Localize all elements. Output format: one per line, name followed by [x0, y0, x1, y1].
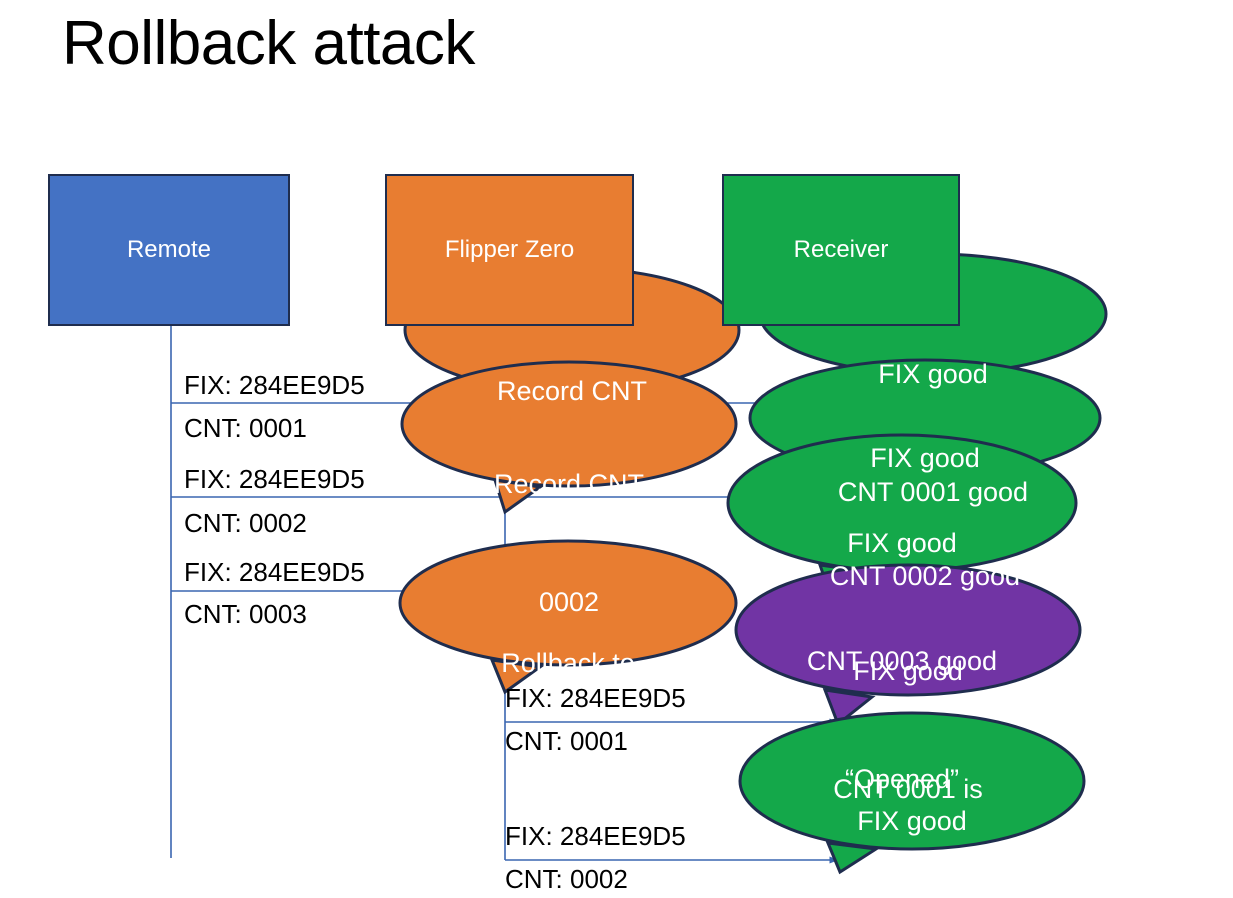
- msg-4-cnt: CNT: 0001: [505, 727, 628, 756]
- msg-4-fix: FIX: 284EE9D5: [505, 684, 686, 713]
- callout-record-cnt-0002: [402, 362, 736, 512]
- actor-label-flipper: Flipper Zero: [445, 236, 574, 264]
- actor-label-receiver: Receiver: [794, 236, 889, 264]
- slide-canvas: Rollback attack: [0, 0, 1233, 898]
- callout-fix-good-cnt-0002-good-opened: [740, 713, 1084, 872]
- diagram-canvas: [0, 0, 1233, 898]
- msg-2-cnt: CNT: 0002: [184, 509, 307, 538]
- msg-3-cnt: CNT: 0003: [184, 600, 307, 629]
- actor-box-receiver[interactable]: Receiver: [722, 174, 960, 326]
- msg-3-fix: FIX: 284EE9D5: [184, 558, 365, 587]
- callout-rollback-to-0001: [400, 541, 736, 692]
- msg-2-fix: FIX: 284EE9D5: [184, 465, 365, 494]
- callout-fix-good-cnt-0001-future: [736, 565, 1080, 724]
- actor-box-remote[interactable]: Remote: [48, 174, 290, 326]
- msg-1-cnt: CNT: 0001: [184, 414, 307, 443]
- msg-5-cnt: CNT: 0002: [505, 865, 628, 894]
- actor-label-remote: Remote: [127, 236, 211, 264]
- msg-1-fix: FIX: 284EE9D5: [184, 371, 365, 400]
- msg-5-fix: FIX: 284EE9D5: [505, 822, 686, 851]
- actor-box-flipper[interactable]: Flipper Zero: [385, 174, 634, 326]
